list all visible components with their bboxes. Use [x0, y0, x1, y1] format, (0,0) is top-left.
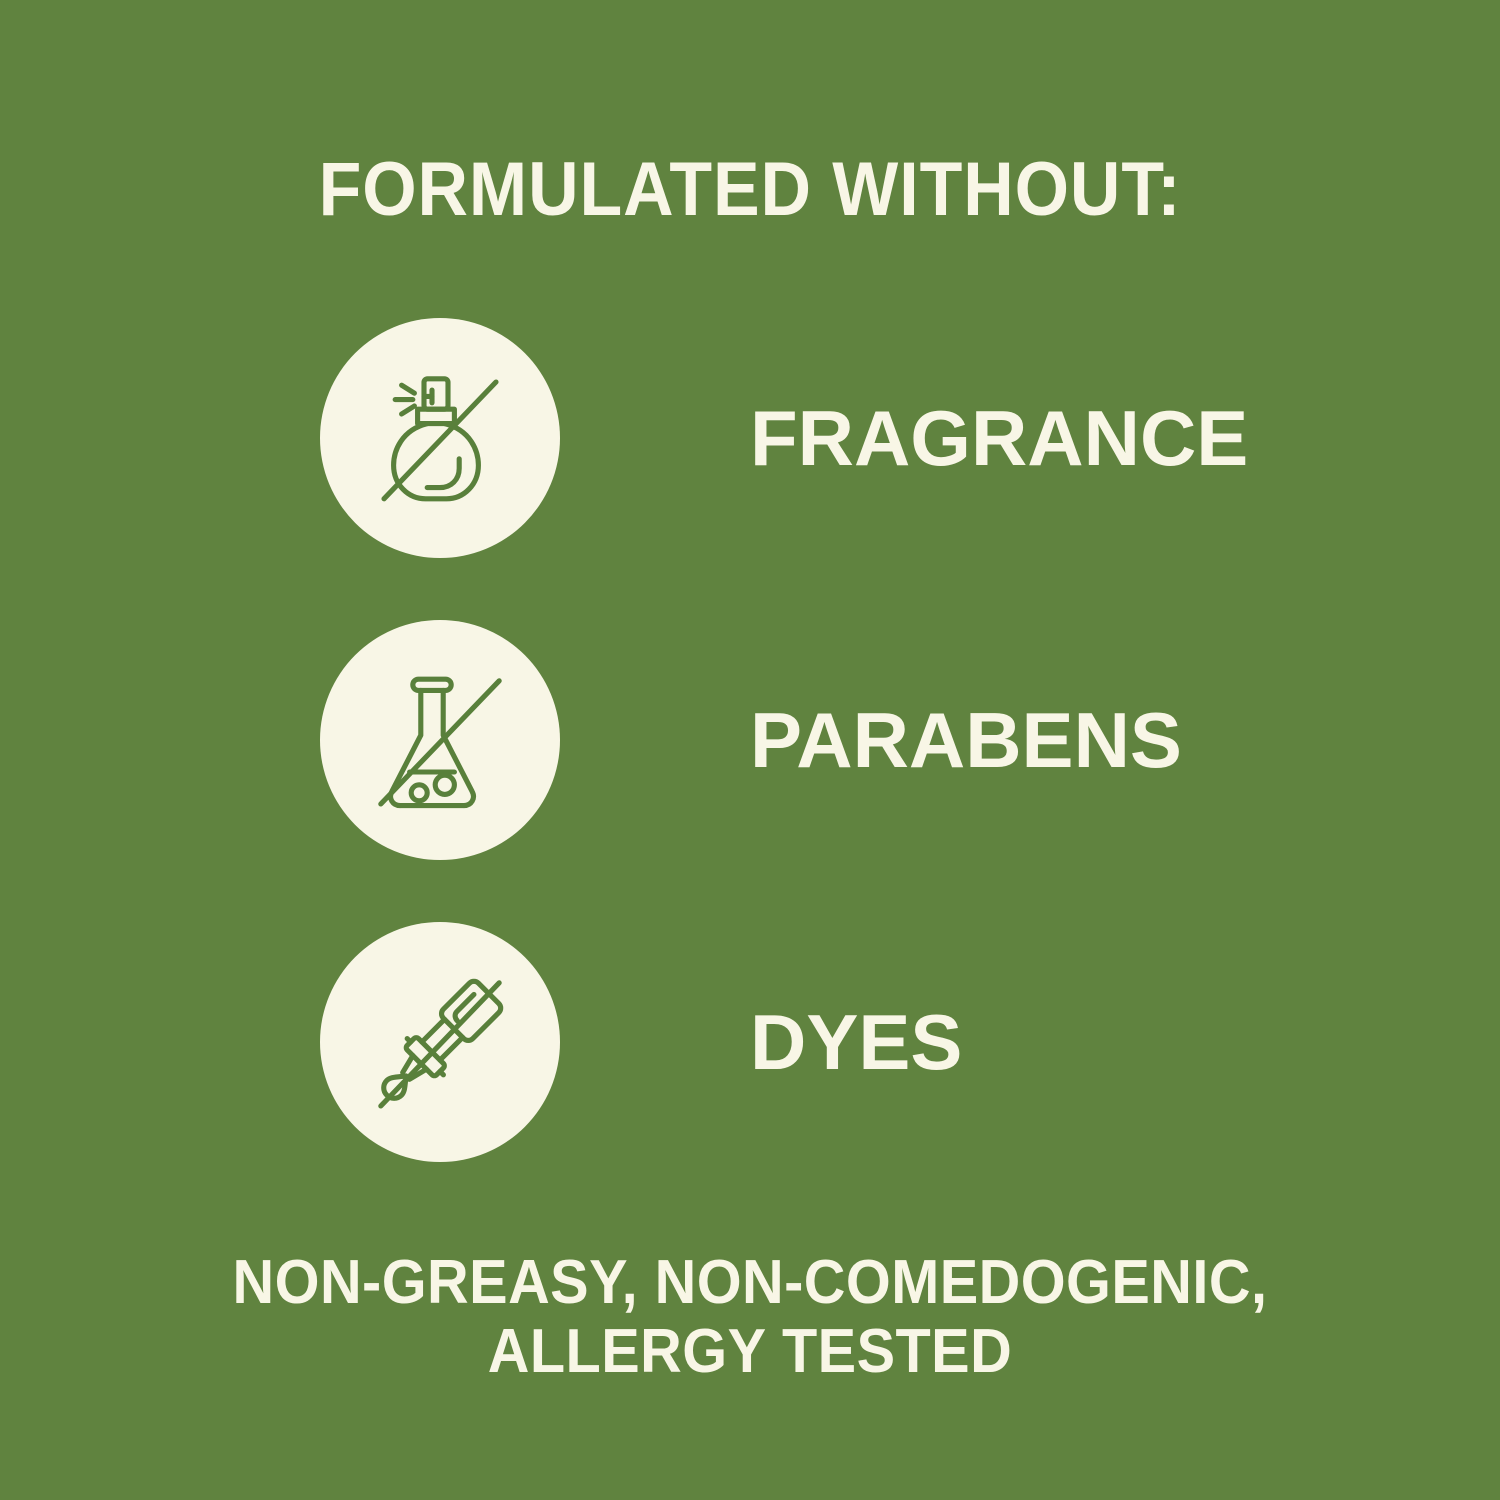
claim-label-parabens: PARABENS	[750, 701, 1182, 779]
claim-row-dyes: DYES	[320, 922, 1320, 1162]
no-dropper-icon	[360, 962, 520, 1122]
claim-row-fragrance: FRAGRANCE	[320, 318, 1320, 558]
page-title: FORMULATED WITHOUT:	[60, 150, 1440, 230]
claim-row-parabens: PARABENS	[320, 620, 1320, 860]
claim-label-dyes: DYES	[750, 1003, 962, 1081]
formulated-without-infographic: FORMULATED WITHOUT:	[0, 0, 1500, 1500]
no-perfume-bottle-icon	[360, 358, 520, 518]
claim-label-fragrance: FRAGRANCE	[750, 399, 1248, 477]
footer-line-1: NON-GREASY, NON-COMEDOGENIC,	[53, 1248, 1448, 1317]
badge-parabens	[320, 620, 560, 860]
badge-dyes	[320, 922, 560, 1162]
badge-fragrance	[320, 318, 560, 558]
no-flask-icon	[360, 660, 520, 820]
footer-line-2: ALLERGY TESTED	[53, 1317, 1448, 1386]
footer-claims: NON-GREASY, NON-COMEDOGENIC, ALLERGY TES…	[53, 1248, 1448, 1387]
